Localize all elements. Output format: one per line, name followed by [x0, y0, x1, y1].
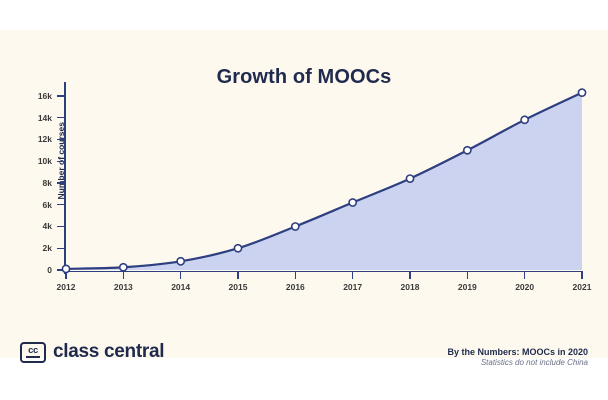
- cc-logo-icon-label: cc: [28, 346, 38, 356]
- x-axis-tick: [180, 272, 181, 279]
- x-axis-tick: [467, 272, 468, 279]
- chart-canvas: Growth of MOOCs Number of courses 02k4k6…: [0, 30, 608, 358]
- data-point-marker: [234, 245, 241, 252]
- data-point-marker: [177, 258, 184, 265]
- x-axis-tick: [123, 272, 124, 279]
- data-point-marker: [62, 265, 69, 272]
- y-axis-tick-label: 16k: [18, 91, 52, 101]
- data-point-marker: [521, 116, 528, 123]
- cc-logo-icon: cc: [20, 342, 46, 363]
- footer-note: By the Numbers: MOOCs in 2020 Statistics…: [447, 346, 588, 369]
- y-axis-tick: [57, 95, 64, 96]
- x-axis-tick: [237, 272, 238, 279]
- data-point-marker: [120, 264, 127, 271]
- y-axis-tick-label: 8k: [18, 178, 52, 188]
- data-point-marker: [578, 89, 585, 96]
- area-fill: [66, 93, 582, 270]
- x-axis-tick-label: 2017: [330, 282, 376, 292]
- series-chart: [66, 85, 582, 270]
- y-axis-tick-label: 4k: [18, 221, 52, 231]
- x-axis-tick: [409, 272, 410, 279]
- y-axis-tick-label: 10k: [18, 156, 52, 166]
- x-axis-tick-label: 2014: [158, 282, 204, 292]
- y-axis-tick: [57, 248, 64, 249]
- data-point-marker: [406, 175, 413, 182]
- footer-note-subtitle: Statistics do not include China: [447, 358, 588, 369]
- x-axis-tick: [352, 272, 353, 279]
- y-axis-tick-label: 6k: [18, 200, 52, 210]
- x-axis-tick-label: 2012: [43, 282, 89, 292]
- y-axis-tick-label: 14k: [18, 113, 52, 123]
- x-axis-line: [64, 271, 583, 272]
- y-axis-tick: [57, 204, 64, 205]
- x-axis-tick-label: 2015: [215, 282, 261, 292]
- y-axis-tick-label: 12k: [18, 134, 52, 144]
- y-axis-tick: [57, 161, 64, 162]
- y-axis-tick-label: 0: [18, 265, 52, 275]
- x-axis-tick-label: 2020: [502, 282, 548, 292]
- footer-note-title: By the Numbers: MOOCs in 2020: [447, 346, 588, 358]
- x-axis-tick: [524, 272, 525, 279]
- x-axis-tick: [581, 272, 582, 279]
- y-axis-tick: [57, 139, 64, 140]
- y-axis-tick: [57, 182, 64, 183]
- data-point-marker: [349, 199, 356, 206]
- y-axis-tick-label: 2k: [18, 243, 52, 253]
- x-axis-tick-label: 2013: [100, 282, 146, 292]
- x-axis-tick-label: 2016: [272, 282, 318, 292]
- plot-area: [66, 85, 582, 270]
- x-axis-tick-label: 2018: [387, 282, 433, 292]
- y-axis-tick: [57, 226, 64, 227]
- x-axis-tick: [295, 272, 296, 279]
- x-axis-tick-label: 2019: [444, 282, 490, 292]
- brand-name: class central: [53, 341, 164, 363]
- x-axis-tick-label: 2021: [559, 282, 605, 292]
- infographic-page: Growth of MOOCs Number of courses 02k4k6…: [0, 0, 608, 400]
- data-point-marker: [292, 223, 299, 230]
- brand-logo: cc class central: [20, 341, 164, 363]
- data-point-marker: [464, 147, 471, 154]
- y-axis-tick: [57, 117, 64, 118]
